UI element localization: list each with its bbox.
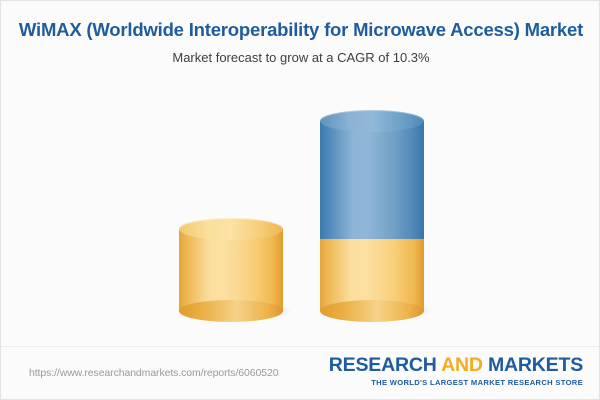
segment-top-ellipse — [320, 110, 424, 132]
chart-subtitle: Market forecast to grow at a CAGR of 10.… — [1, 50, 600, 66]
logo-word-markets: MARKETS — [483, 354, 583, 376]
cylinder-2034 — [320, 121, 424, 311]
segment-body — [179, 229, 283, 311]
segment-bottom-ellipse — [179, 300, 283, 322]
segment-top-ellipse — [179, 218, 283, 240]
segment-bottom-ellipse — [320, 300, 424, 322]
bar-segment-base-2034 — [320, 239, 424, 311]
bar-segment-growth-2034 — [320, 121, 424, 239]
brand-logo-wordmark: RESEARCH AND MARKETS — [329, 355, 583, 375]
logo-word-research: RESEARCH — [329, 354, 441, 376]
footer: https://www.researchandmarkets.com/repor… — [1, 346, 600, 399]
chart-header: WiMAX (Worldwide Interoperability for Mi… — [1, 1, 600, 66]
page-title: WiMAX (Worldwide Interoperability for Mi… — [1, 19, 600, 41]
brand-logo-tagline: THE WORLD'S LARGEST MARKET RESEARCH STOR… — [329, 378, 583, 387]
logo-word-and: AND — [441, 354, 483, 376]
plot-area: USD 1.5 Billion 2024 USD 3.9 Billion — [1, 86, 600, 346]
report-url[interactable]: https://www.researchandmarkets.com/repor… — [29, 367, 278, 379]
chart-infographic: WiMAX (Worldwide Interoperability for Mi… — [0, 0, 600, 400]
cylinder-2024 — [179, 229, 283, 311]
bar-segment-base-2024 — [179, 229, 283, 311]
segment-body — [320, 121, 424, 239]
brand-logo[interactable]: RESEARCH AND MARKETS THE WORLD'S LARGEST… — [329, 355, 583, 387]
